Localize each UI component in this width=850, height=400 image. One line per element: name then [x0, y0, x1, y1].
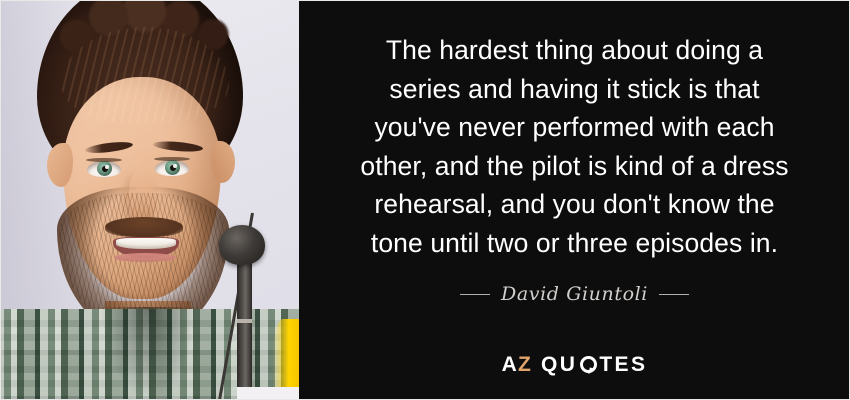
eye-right: [155, 160, 189, 176]
teeth: [116, 238, 176, 249]
quote-line: rehearsal, and you don't know the: [299, 185, 850, 224]
microphone-ring: [237, 319, 252, 323]
speech-bubble-icon: [580, 356, 597, 373]
quote-line: series and having it stick is that: [299, 70, 850, 109]
iris-right: [165, 160, 180, 175]
photo-bottom-strip: [237, 387, 299, 400]
logo-letter-a: A: [502, 353, 518, 376]
attribution: David Giuntoli: [299, 283, 850, 305]
microphone-body: [237, 259, 252, 400]
microphone-head: [219, 225, 265, 265]
attribution-dash-right: [659, 294, 689, 295]
shirt-shadow: [101, 307, 197, 400]
azquotes-logo[interactable]: AZQUTES: [299, 353, 850, 377]
eye-glint-left: [105, 165, 109, 169]
attribution-dash-left: [460, 294, 490, 295]
speech-bubble-tail: [588, 367, 595, 375]
logo-word-part-1: QU: [541, 353, 577, 376]
quote-card: The hardest thing about doing a series a…: [0, 0, 850, 400]
quote-line: tone until two or three episodes in.: [299, 224, 850, 263]
author-name[interactable]: David Giuntoli: [501, 283, 648, 305]
eyelid-left: [86, 158, 122, 162]
lower-lip: [114, 253, 176, 262]
iris-left: [97, 161, 112, 176]
eyelid-right: [154, 157, 190, 161]
quote-line: other, and the pilot is kind of a dress: [299, 147, 850, 186]
eye-left: [87, 161, 121, 177]
logo-letter-z: Z: [518, 353, 532, 376]
logo-word-part-2: TES: [599, 353, 647, 376]
quote-line: you've never performed with each: [299, 108, 850, 147]
mustache: [105, 217, 183, 237]
quote-text: The hardest thing about doing a series a…: [299, 31, 850, 262]
quote-panel: The hardest thing about doing a series a…: [299, 1, 850, 400]
quote-line: The hardest thing about doing a: [299, 31, 850, 70]
eye-glint-right: [173, 164, 177, 168]
author-photo: [1, 1, 299, 400]
